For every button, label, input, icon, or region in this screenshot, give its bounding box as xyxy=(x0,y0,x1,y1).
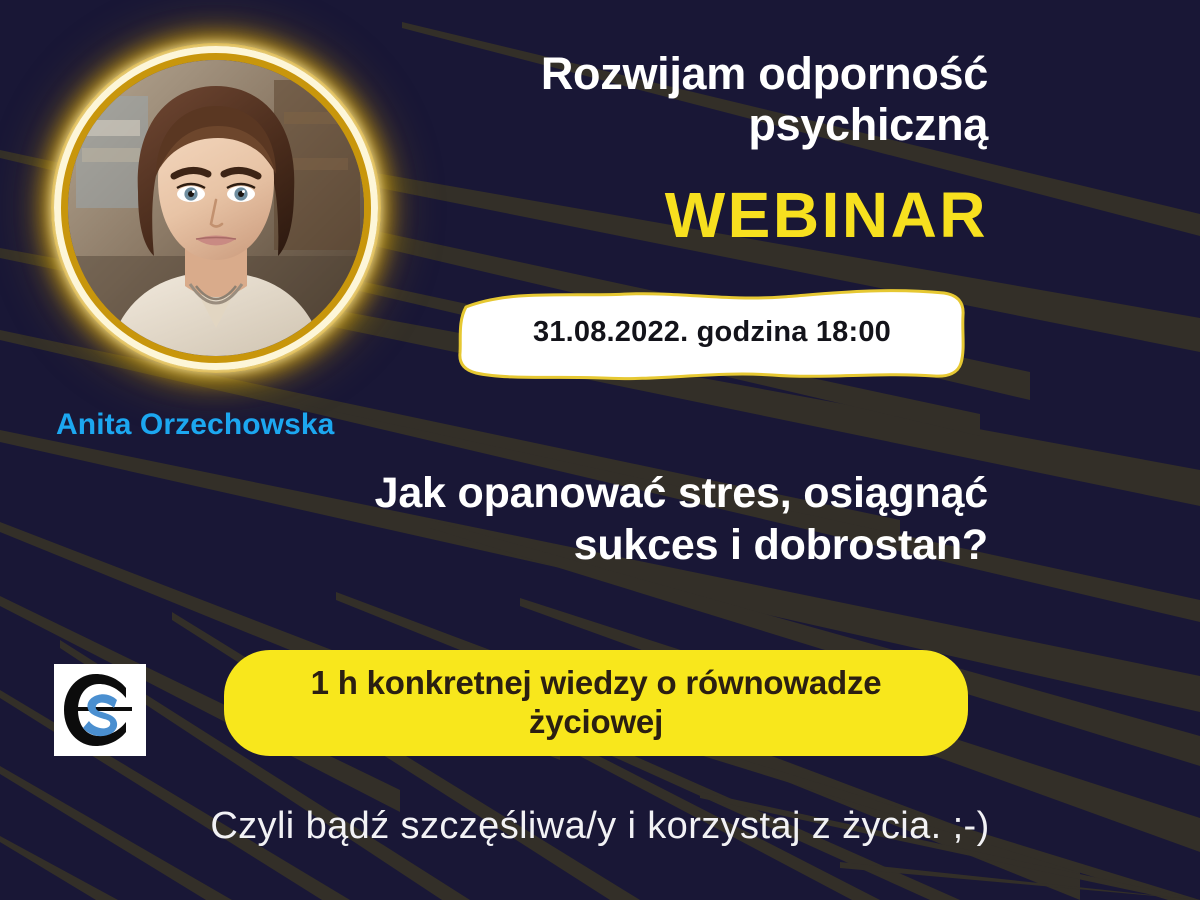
offer-line-1: 1 h konkretnej wiedzy o równowadze xyxy=(311,664,882,703)
brand-logo-mark xyxy=(54,664,146,756)
date-time-text: 31.08.2022. godzina 18:00 xyxy=(452,285,972,381)
page-title: Rozwijam odporność psychiczną xyxy=(288,48,988,151)
event-type-title: WEBINAR xyxy=(288,183,988,247)
offer-banner: 1 h konkretnej wiedzy o równowadze życio… xyxy=(224,650,968,756)
speaker-name: Anita Orzechowska xyxy=(56,408,334,442)
tagline: Czyli bądź szczęśliwa/y i korzystaj z ży… xyxy=(0,805,1200,848)
offer-line-2: życiowej xyxy=(311,703,882,742)
webinar-poster: Anita Orzechowska Rozwijam odporność psy… xyxy=(0,0,1200,900)
offer-banner-text: 1 h konkretnej wiedzy o równowadze życio… xyxy=(311,664,882,742)
brand-logo xyxy=(54,664,146,756)
date-time-badge: 31.08.2022. godzina 18:00 xyxy=(452,285,972,381)
headline-line-1: Rozwijam odporność xyxy=(288,48,988,99)
question-line-2: sukces i dobrostan? xyxy=(228,520,988,572)
question-headline: Jak opanować stres, osiągnąć sukces i do… xyxy=(228,468,988,571)
headline-line-2: psychiczną xyxy=(288,99,988,150)
question-line-1: Jak opanować stres, osiągnąć xyxy=(228,468,988,520)
